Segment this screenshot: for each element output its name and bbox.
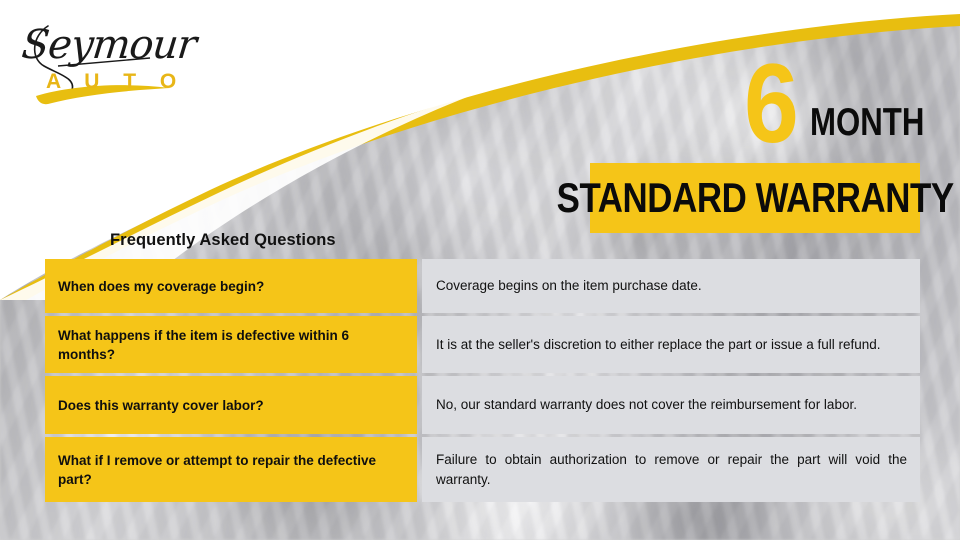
logo-wordmark: Seymour	[20, 22, 198, 68]
faq-question-cell: Does this warranty cover labor?	[45, 376, 417, 434]
warranty-slide: Seymour A U T O 6 MONTH STANDARD WARRANT…	[0, 0, 960, 540]
faq-answer-text: No, our standard warranty does not cover…	[436, 395, 907, 415]
table-row: Does this warranty cover labor? No, our …	[45, 376, 920, 434]
warranty-title-text: STANDARD WARRANTY	[556, 177, 953, 219]
logo-subtitle: A U T O	[46, 70, 185, 94]
faq-table: When does my coverage begin? Coverage be…	[45, 259, 920, 502]
warranty-duration-unit: MONTH	[810, 103, 924, 142]
faq-answer-cell: It is at the seller's discretion to eith…	[422, 316, 920, 373]
table-row: What happens if the item is defective wi…	[45, 316, 920, 373]
brand-logo: Seymour A U T O	[14, 14, 194, 110]
faq-answer-text: It is at the seller's discretion to eith…	[436, 335, 907, 355]
faq-question-cell: What if I remove or attempt to repair th…	[45, 437, 417, 502]
faq-answer-cell: Failure to obtain authorization to remov…	[422, 437, 920, 502]
faq-answer-cell: No, our standard warranty does not cover…	[422, 376, 920, 434]
warranty-duration-number: 6	[744, 48, 797, 160]
faq-question-cell: When does my coverage begin?	[45, 259, 417, 313]
warranty-title-bar: STANDARD WARRANTY	[590, 163, 920, 233]
faq-answer-text: Coverage begins on the item purchase dat…	[436, 276, 907, 296]
faq-heading: Frequently Asked Questions	[110, 231, 336, 250]
faq-answer-text: Failure to obtain authorization to remov…	[436, 450, 907, 490]
table-row: When does my coverage begin? Coverage be…	[45, 259, 920, 313]
table-row: What if I remove or attempt to repair th…	[45, 437, 920, 502]
faq-answer-cell: Coverage begins on the item purchase dat…	[422, 259, 920, 313]
faq-question-cell: What happens if the item is defective wi…	[45, 316, 417, 373]
